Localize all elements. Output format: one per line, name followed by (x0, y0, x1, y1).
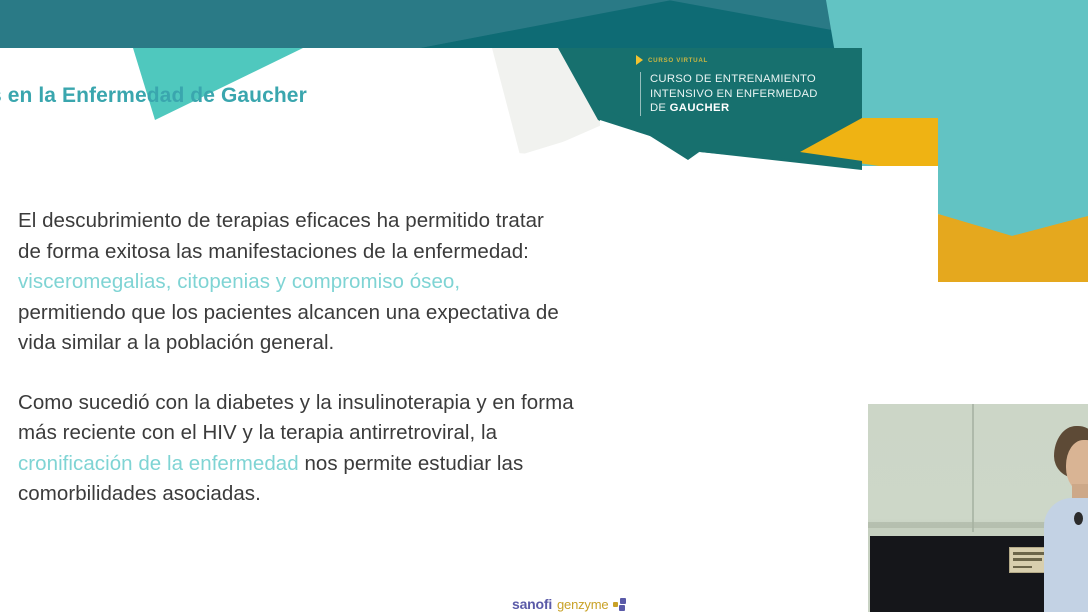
badge-title-line-1: CURSO DE ENTRENAMIENTO (650, 72, 818, 87)
body-highlight-phrase: cronificación de la enfermedad (18, 452, 299, 475)
paragraph-spacer (18, 359, 678, 388)
body-line: Como sucedió con la diabetes y la insuli… (18, 388, 678, 419)
lectern-board (870, 536, 1060, 612)
presentation-slide: s en la Enfermedad de Gaucher El descubr… (0, 0, 1088, 612)
sponsor-mark-square-2 (613, 602, 618, 607)
sponsor-mark-square-3 (619, 605, 625, 611)
badge-line3-prefix: DE (650, 102, 670, 114)
sponsor-subname: genzyme (557, 597, 608, 612)
nameplate-line (1013, 566, 1032, 568)
badge-title: CURSO DE ENTRENAMIENTO INTENSIVO EN ENFE… (640, 72, 818, 116)
shape-light-teal-right-block (862, 0, 1088, 184)
nameplate-line (1013, 558, 1042, 561)
sponsor-mark-square-1 (620, 598, 626, 604)
slide-title: s en la Enfermedad de Gaucher (0, 84, 510, 108)
body-line: comorbilidades asociadas. (18, 479, 678, 510)
body-line: de forma exitosa las manifestaciones de … (18, 237, 678, 268)
sponsor-logo: sanofi genzyme (512, 596, 627, 612)
body-line: El descubrimiento de terapias eficaces h… (18, 206, 678, 237)
shape-gold-wedge-lower (940, 168, 1088, 282)
wall-seam (972, 404, 974, 532)
shape-gold-bottom-right (940, 205, 1088, 282)
body-line-mixed: cronificación de la enfermedad nos permi… (18, 449, 678, 480)
badge-title-line-3: DE GAUCHER (650, 101, 818, 116)
body-line: vida similar a la población general. (18, 328, 678, 359)
speaker-figure (1046, 426, 1088, 612)
badge-eyebrow: CURSO VIRTUAL (636, 55, 708, 65)
shape-white-gap-final (862, 166, 938, 282)
shape-medium-teal-band (0, 0, 1088, 48)
shape-gold-lower-final (938, 214, 1088, 282)
shape-light-teal-lower-wedge (862, 170, 1088, 218)
shape-medium-teal-left-overlay (0, 0, 672, 48)
body-line: más reciente con el HIV y la terapia ant… (18, 418, 678, 449)
body-line-highlighted: visceromegalias, citopenias y compromiso… (18, 267, 678, 298)
body-line: permitiendo que los pacientes alcancen u… (18, 298, 678, 329)
play-arrow-icon (636, 55, 643, 65)
shape-light-teal-top-right (826, 0, 1088, 178)
lapel-microphone-icon (1074, 512, 1083, 525)
sponsor-mark-icon (613, 598, 627, 611)
shape-light-teal-column (862, 48, 1088, 205)
slide-body-text: El descubrimiento de terapias eficaces h… (18, 206, 678, 510)
body-trailing-text: nos permite estudiar las (299, 452, 524, 475)
shape-light-teal-col-final (938, 48, 1088, 214)
speaker-video-overlay[interactable] (868, 404, 1088, 612)
shape-light-teal-tip (938, 168, 1088, 236)
badge-line3-strong: GAUCHER (670, 102, 730, 114)
badge-eyebrow-label: CURSO VIRTUAL (648, 57, 708, 64)
badge-title-line-2: INTENSIVO EN ENFERMEDAD (650, 87, 818, 102)
shape-light-teal-wedge (826, 0, 1088, 212)
sponsor-name: sanofi (512, 596, 552, 612)
course-badge: CURSO VIRTUAL CURSO DE ENTRENAMIENTO INT… (632, 50, 846, 134)
